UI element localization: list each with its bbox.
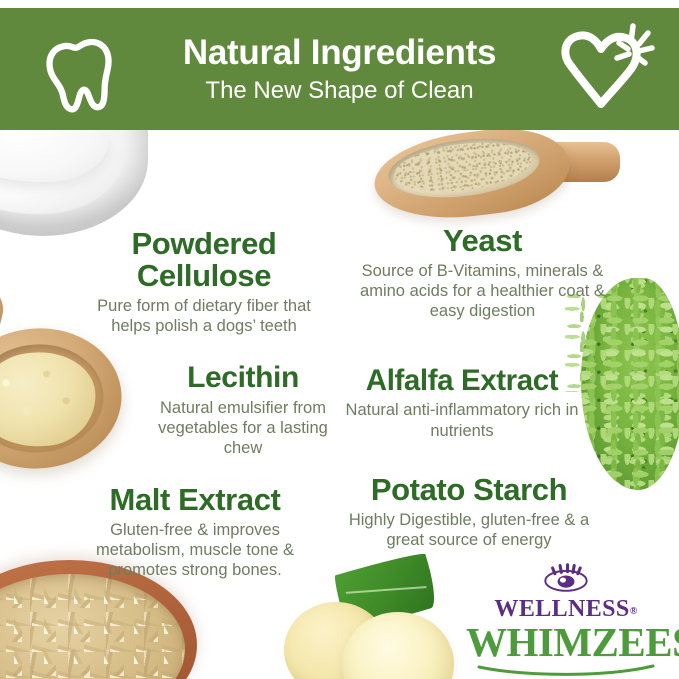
ingredient-powdered-cellulose: Powdered Cellulose Pure form of dietary … [77, 228, 331, 336]
ingredient-description: Highly Digestible, gluten-free & a great… [338, 510, 600, 550]
ingredient-title: Lecithin [150, 363, 336, 394]
barley-grains-shape [0, 574, 185, 679]
ingredient-description: Source of B-Vitamins, minerals & amino a… [360, 261, 605, 321]
ingredient-lecithin: Lecithin Natural emulsifier from vegetab… [150, 363, 336, 458]
ingredient-title: Yeast [360, 225, 605, 257]
ingredient-malt-extract: Malt Extract Gluten-free & improves meta… [64, 484, 326, 580]
ingredient-description: Gluten-free & improves metabolism, muscl… [64, 520, 326, 580]
powdered-cellulose-photo [0, 118, 148, 236]
ingredient-alfalfa-extract: Alfalfa Extract Natural anti-inflammator… [338, 366, 586, 441]
ingredient-title: Powdered Cellulose [77, 228, 331, 292]
brand-swoosh-underline [477, 663, 655, 679]
page-subtitle: The New Shape of Clean [183, 79, 496, 103]
ingredient-potato-starch: Potato Starch Highly Digestible, gluten-… [338, 474, 600, 550]
ingredient-title: Alfalfa Extract [338, 366, 586, 396]
heart-sparkle-icon [549, 20, 659, 125]
natural-ingredients-infographic: Natural Ingredients The New Shape of Cle… [0, 0, 679, 679]
ingredient-description: Natural anti-inflammatory rich in nutrie… [338, 400, 586, 440]
ingredient-description: Pure form of dietary fiber that helps po… [77, 296, 331, 336]
header-text-group: Natural Ingredients The New Shape of Cle… [183, 35, 496, 103]
yeast-photo [368, 128, 618, 224]
ingredient-description: Natural emulsifier from vegetables for a… [150, 398, 336, 458]
brand-logo: WELLNESS® WHIMZEES® [466, 562, 666, 679]
ingredient-title: Malt Extract [64, 484, 326, 516]
ingredient-title: Potato Starch [338, 474, 600, 506]
brand-whimzees-text: WHIMZEES [466, 619, 679, 665]
ingredient-yeast: Yeast Source of B-Vitamins, minerals & a… [360, 225, 605, 321]
brand-whimzees-wordmark: WHIMZEES® [466, 622, 666, 663]
wellness-sunburst-paw-icon [543, 579, 589, 596]
brand-wellness-registered-mark: ® [630, 606, 638, 617]
page-title: Natural Ingredients [183, 35, 496, 70]
brand-wellness-wordmark: WELLNESS® [466, 597, 666, 621]
tooth-icon [38, 28, 128, 118]
header-banner: Natural Ingredients The New Shape of Cle… [0, 8, 679, 130]
